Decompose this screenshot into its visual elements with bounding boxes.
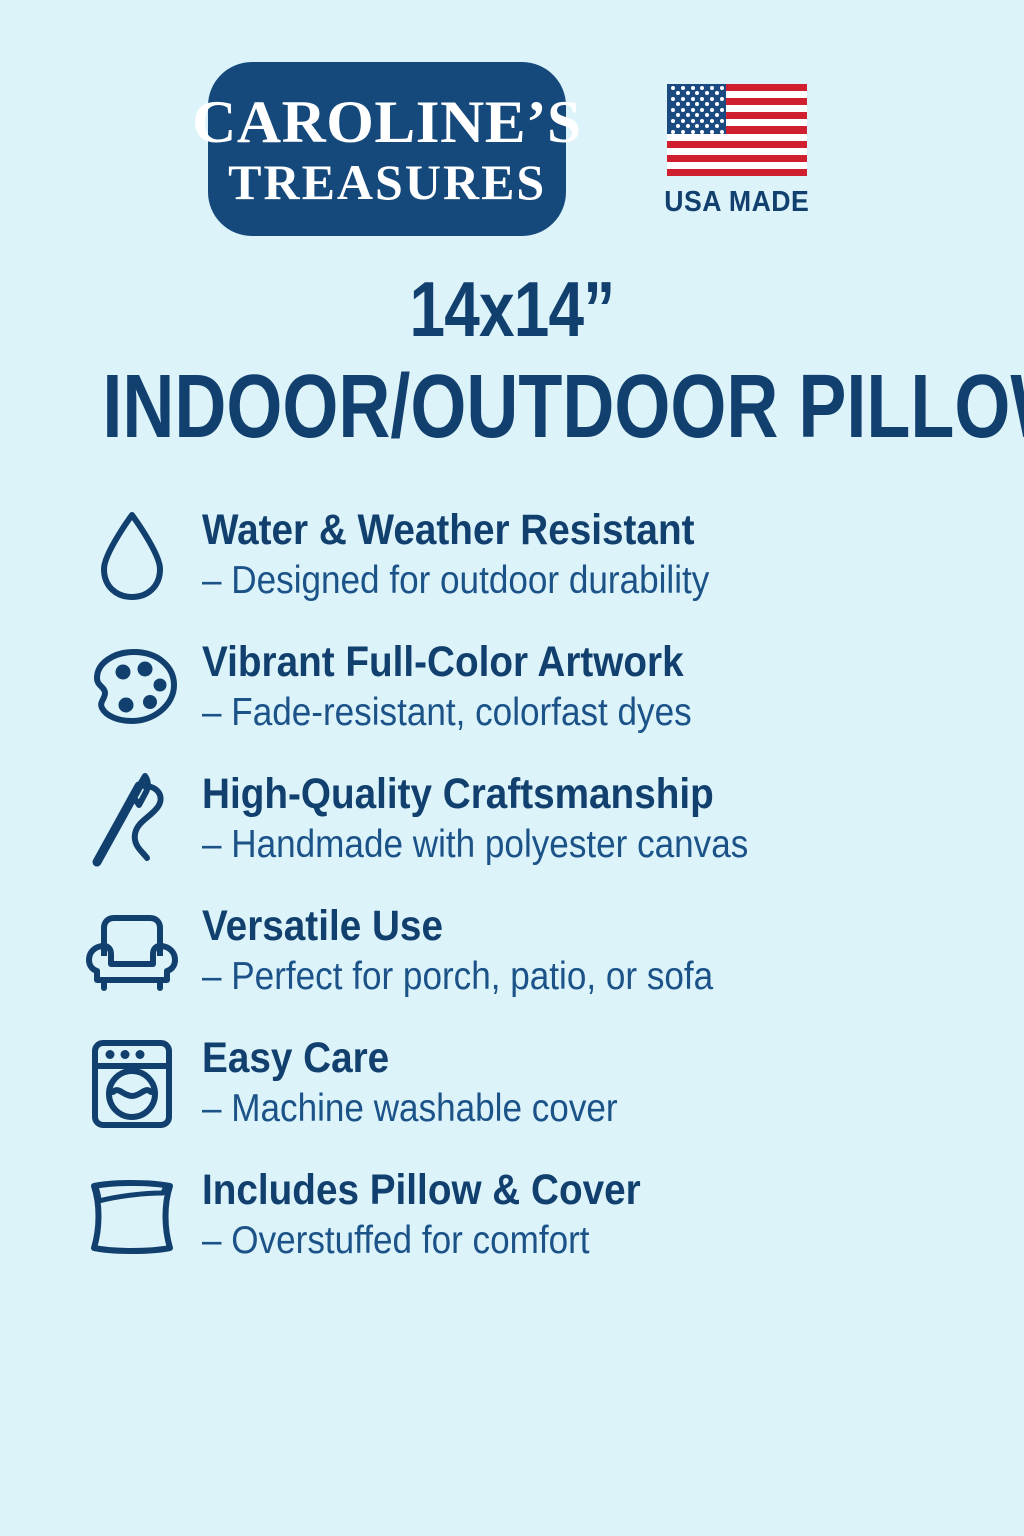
list-item: High-Quality Craftsmanship – Handmade wi…	[84, 768, 1024, 872]
list-item: Easy Care – Machine washable cover	[84, 1032, 1024, 1136]
pillow-icon	[84, 1164, 180, 1268]
list-item: Includes Pillow & Cover – Overstuffed fo…	[84, 1164, 1024, 1268]
usa-flag-icon	[667, 84, 807, 176]
feature-subtitle: – Perfect for porch, patio, or sofa	[202, 955, 713, 999]
brand-logo: CAROLINE’S TREASURES	[208, 62, 566, 236]
brand-header: CAROLINE’S TREASURES USA MADE	[0, 0, 1024, 236]
feature-subtitle: – Fade-resistant, colorfast dyes	[202, 691, 692, 735]
feature-title: High-Quality Craftsmanship	[202, 772, 748, 817]
feature-text: Includes Pillow & Cover – Overstuffed fo…	[202, 1164, 689, 1263]
feature-title: Versatile Use	[202, 904, 713, 949]
list-item: Versatile Use – Perfect for porch, patio…	[84, 900, 1024, 1004]
list-item: Vibrant Full-Color Artwork – Fade-resist…	[84, 636, 1024, 740]
brand-logo-line-1: CAROLINE’S	[193, 93, 582, 152]
feature-title: Water & Weather Resistant	[202, 508, 709, 553]
washing-machine-icon	[84, 1032, 180, 1136]
page-title: INDOOR/OUTDOOR PILLOW	[102, 362, 921, 452]
needle-and-thread-icon	[84, 768, 180, 872]
list-item: Water & Weather Resistant – Designed for…	[84, 504, 1024, 608]
usa-made-badge: USA MADE	[658, 84, 816, 219]
feature-subtitle: – Overstuffed for comfort	[202, 1219, 641, 1263]
paint-palette-icon	[84, 636, 180, 740]
feature-subtitle: – Designed for outdoor durability	[202, 559, 709, 603]
brand-logo-line-2: TREASURES	[228, 156, 546, 209]
feature-title: Easy Care	[202, 1036, 618, 1081]
feature-text: Easy Care – Machine washable cover	[202, 1032, 664, 1131]
feature-subtitle: – Handmade with polyester canvas	[202, 823, 748, 867]
feature-title: Vibrant Full-Color Artwork	[202, 640, 692, 685]
feature-title: Includes Pillow & Cover	[202, 1168, 641, 1213]
feature-text: Water & Weather Resistant – Designed for…	[202, 504, 766, 603]
feature-text: Versatile Use – Perfect for porch, patio…	[202, 900, 770, 999]
usa-made-label: USA MADE	[664, 186, 809, 219]
armchair-icon	[84, 900, 180, 1004]
feature-subtitle: – Machine washable cover	[202, 1087, 618, 1131]
feature-list: Water & Weather Resistant – Designed for…	[0, 504, 1024, 1268]
feature-text: High-Quality Craftsmanship – Handmade wi…	[202, 768, 809, 867]
product-size-heading: 14x14”	[92, 270, 932, 348]
water-drop-icon	[84, 504, 180, 608]
feature-text: Vibrant Full-Color Artwork – Fade-resist…	[202, 636, 746, 735]
